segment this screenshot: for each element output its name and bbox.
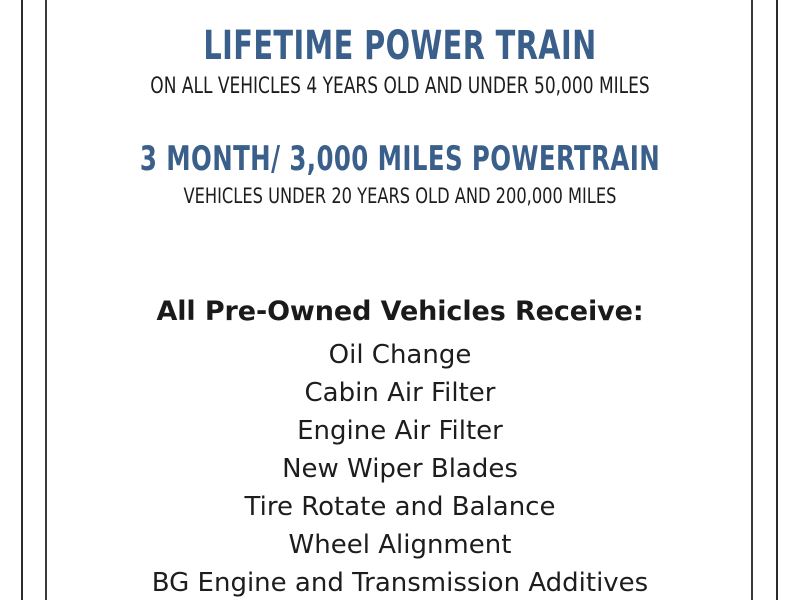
warranty-subtitle-lifetime-power-train: ON ALL VEHICLES 4 YEARS OLD AND UNDER 50… — [97, 76, 702, 98]
document-page: LIFETIME POWER TRAIN ON ALL VEHICLES 4 Y… — [0, 0, 800, 600]
warranty-block-lifetime-power-train: LIFETIME POWER TRAIN ON ALL VEHICLES 4 Y… — [48, 26, 752, 98]
content-column: LIFETIME POWER TRAIN ON ALL VEHICLES 4 Y… — [48, 0, 752, 600]
services-list: Oil Change Cabin Air Filter Engine Air F… — [48, 336, 752, 602]
services-heading: All Pre-Owned Vehicles Receive: — [48, 298, 752, 325]
list-item: New Wiper Blades — [48, 450, 752, 488]
outer-left-rule — [21, 0, 23, 600]
warranty-subtitle-three-month-powertrain: VEHICLES UNDER 20 YEARS OLD and 200,000 … — [97, 186, 702, 207]
list-item: Tire Rotate and Balance — [48, 488, 752, 526]
warranty-block-three-month-powertrain: 3 MONTH/ 3,000 MILES POWERTRAIN VEHICLES… — [48, 142, 752, 207]
list-item: Wheel Alignment — [48, 526, 752, 564]
warranty-title-three-month-powertrain: 3 MONTH/ 3,000 MILES POWERTRAIN — [118, 142, 681, 176]
pre-owned-services-section: All Pre-Owned Vehicles Receive: Oil Chan… — [48, 298, 752, 602]
outer-right-rule — [776, 0, 778, 600]
list-item: Oil Change — [48, 336, 752, 374]
warranty-title-lifetime-power-train: LIFETIME POWER TRAIN — [118, 26, 681, 66]
list-item: Engine Air Filter — [48, 412, 752, 450]
inner-left-rule — [45, 0, 47, 600]
list-item: BG Engine and Transmission Additives — [48, 564, 752, 602]
list-item: Cabin Air Filter — [48, 374, 752, 412]
